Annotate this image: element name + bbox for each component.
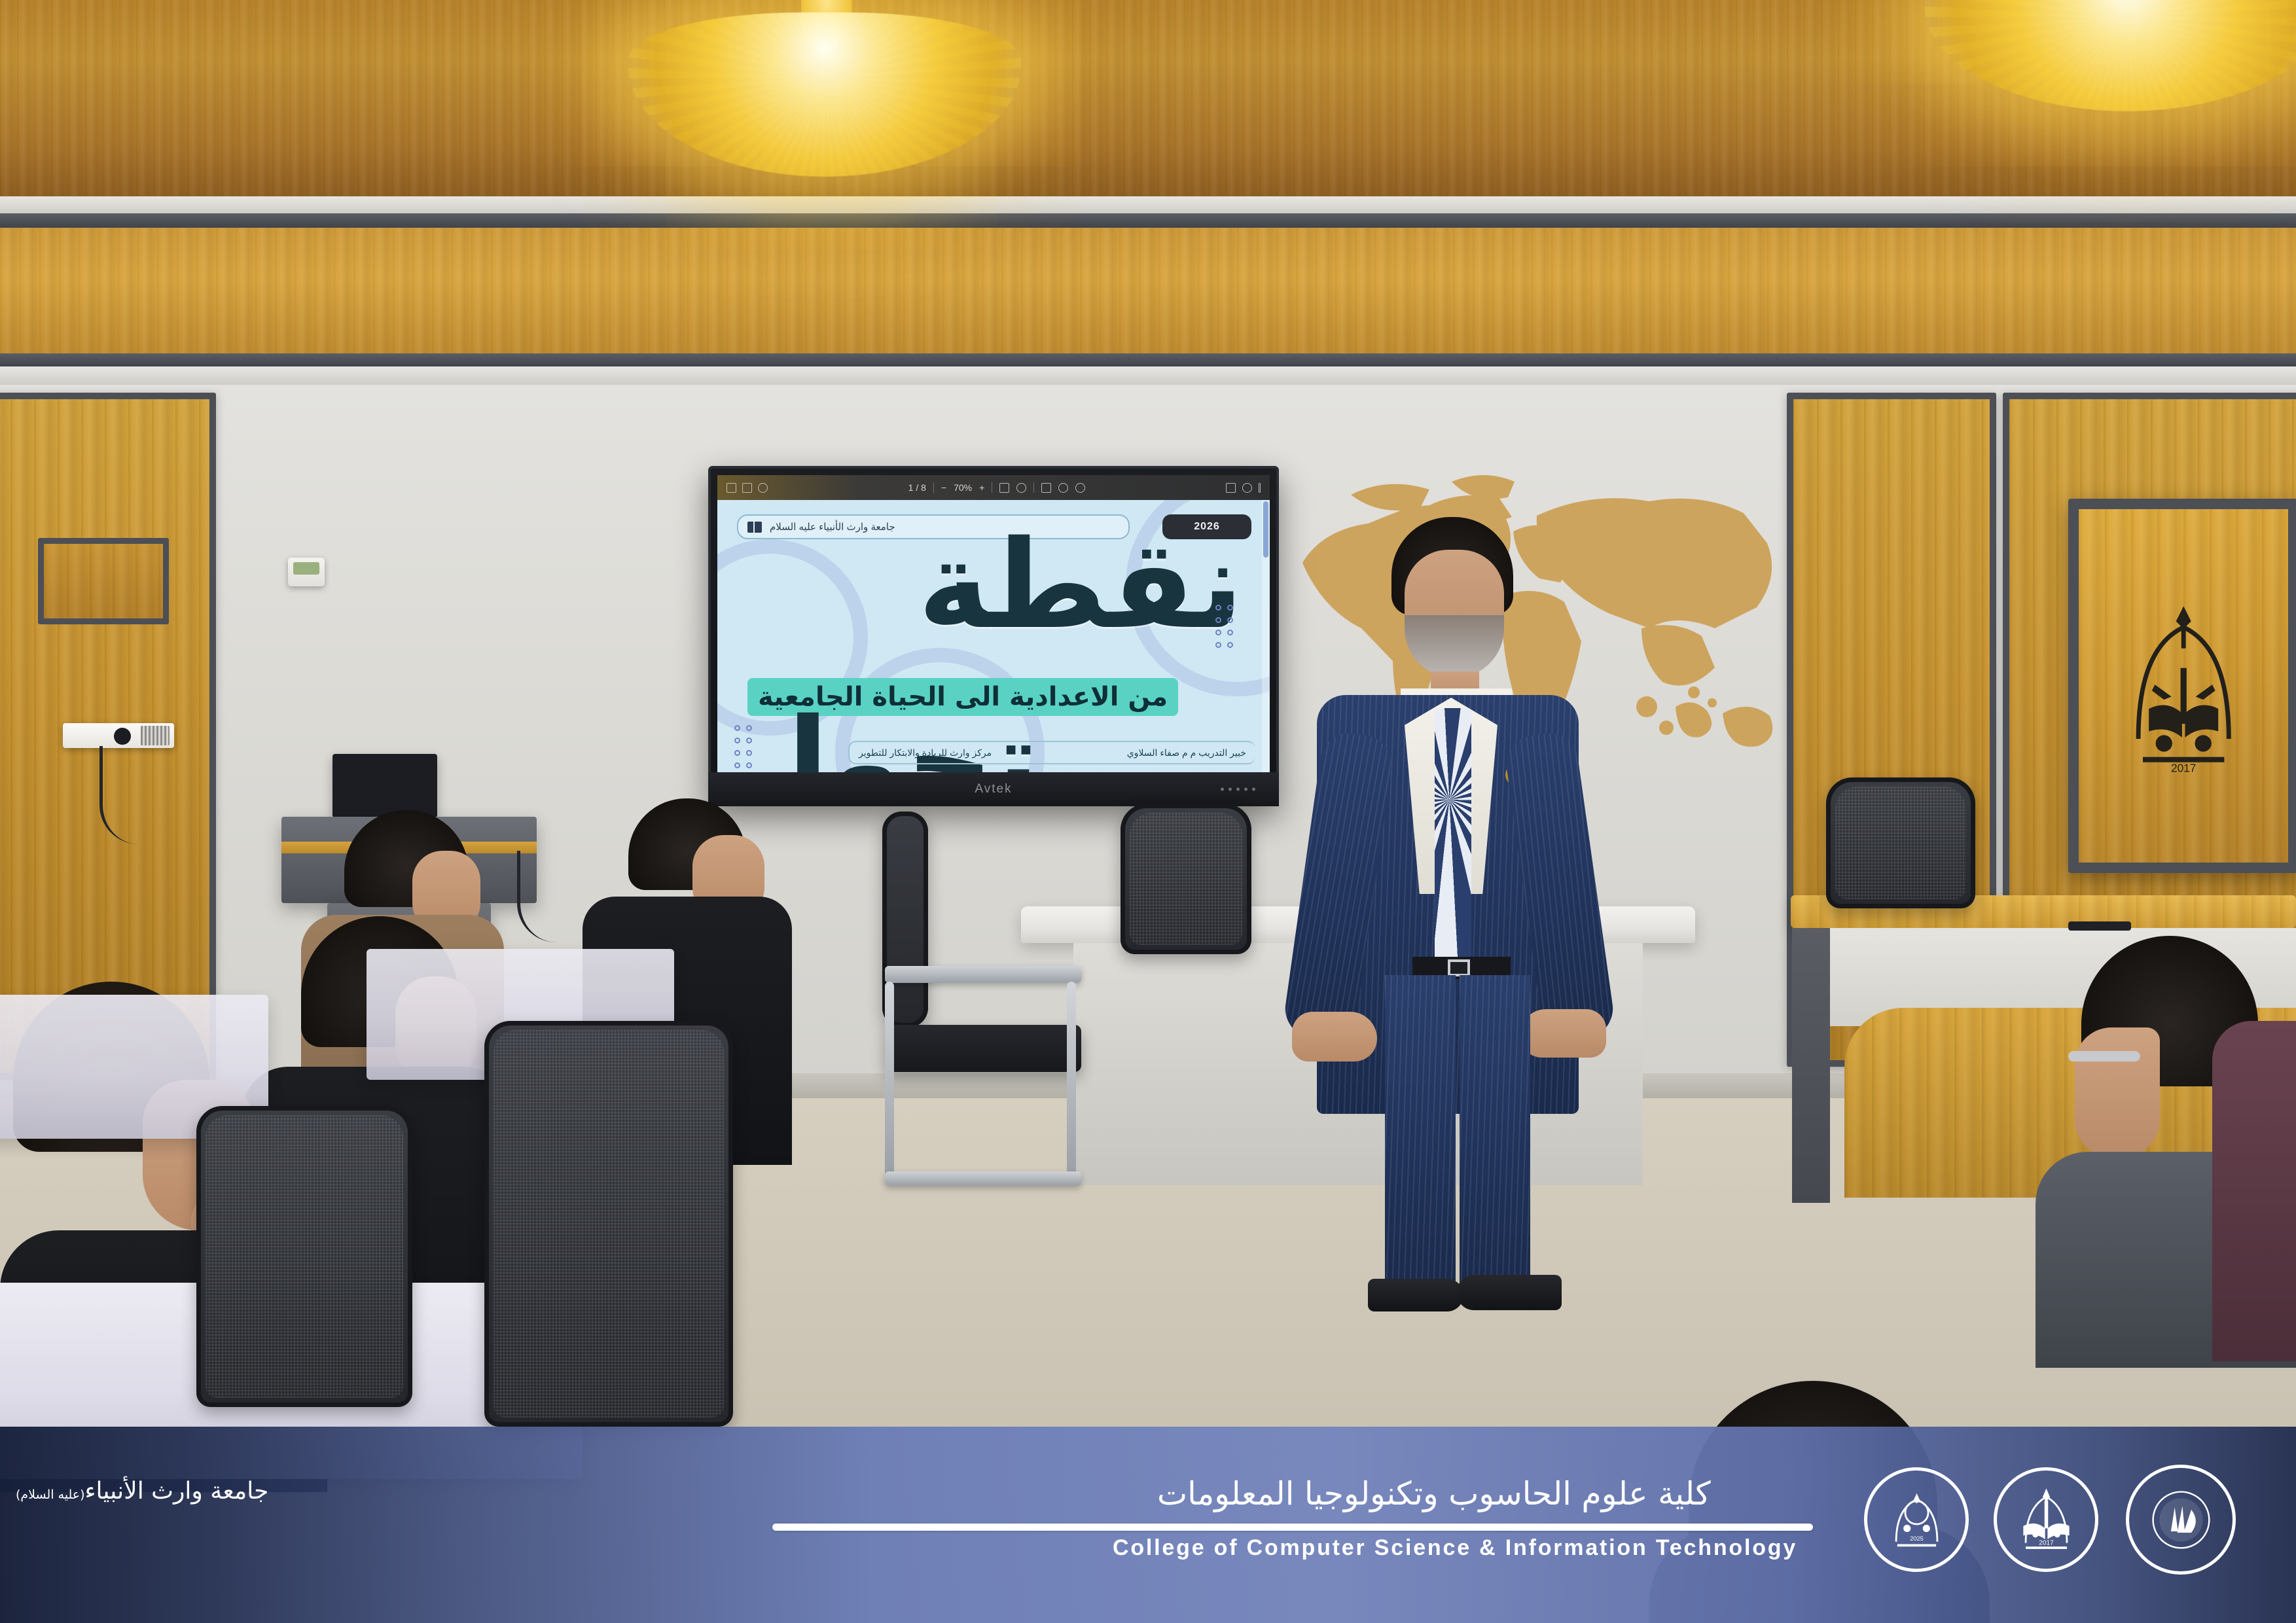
mid-trim-light [0, 366, 2296, 385]
foreground-chair-a[interactable] [484, 1021, 733, 1427]
ceiling-trim-light [0, 196, 2296, 213]
presenter-right-leg [1460, 975, 1530, 1289]
college-logo-icon: 2025 [1880, 1484, 1953, 1556]
highlighter-icon[interactable] [1041, 483, 1051, 493]
side-desk-leg [1792, 928, 1830, 1203]
svg-text:2017: 2017 [2039, 1539, 2054, 1546]
zoom-out-button[interactable]: − [941, 482, 946, 493]
university-logo-icon: 2017 [2010, 1484, 2083, 1556]
presenter-belt-buckle [1448, 959, 1470, 976]
footer-college-name-ar: كلية علوم الحاسوب وتكنولوجيا المعلومات [1157, 1475, 1711, 1512]
university-logo: 2017 [1994, 1467, 2098, 1572]
slide-footer-trainer: خبير التدريب م م صفاء السلاوي [1127, 747, 1246, 758]
download-icon[interactable] [1226, 483, 1236, 493]
slide-dot-grid-left [734, 725, 752, 768]
pencil-icon[interactable] [758, 483, 768, 493]
slide-scrollbar[interactable] [1262, 500, 1270, 772]
chandelier-right [1924, 0, 2296, 111]
ceiling-trim-dark [0, 213, 2296, 228]
cantilever-chair-seat[interactable] [885, 1025, 1081, 1072]
cantilever-chair-frame-left [885, 982, 894, 1178]
presenter-beard [1405, 615, 1504, 678]
side-desk-pen[interactable] [2068, 921, 2131, 931]
display-indicator-leds [1221, 788, 1255, 791]
footer-university-name-left: جامعة وارث الأنبياء(عليه السلام) [16, 1478, 268, 1505]
redo-icon[interactable] [1075, 483, 1085, 493]
display-chin: Avtek [708, 772, 1279, 806]
side-desk-chair[interactable] [1826, 777, 1975, 908]
presenter-tie-front [1435, 708, 1471, 970]
slide-footer-center: مركز وارث للريادة والابتكار للتطوير [859, 747, 992, 758]
footer-divider-rule [772, 1524, 1813, 1531]
cantilever-chair-arm [885, 966, 1081, 983]
wall-display[interactable]: 1 / 8 − 70% + [708, 466, 1279, 806]
display-screen[interactable]: 1 / 8 − 70% + [717, 475, 1270, 772]
undo-icon[interactable] [1058, 483, 1068, 493]
lecture-hall-photo: 2017 [0, 0, 2296, 1623]
chandelier-center [628, 0, 1021, 177]
wall-power-outlet[interactable] [63, 723, 174, 748]
warith-al-anbiyaa-emblem-icon: 2017 [2108, 559, 2259, 813]
presenter-left-hand [1292, 1012, 1377, 1061]
university-emblem-plaque: 2017 [2068, 499, 2296, 873]
slide-title-line-1: نقطة [918, 531, 1244, 639]
ministry-logo [2126, 1465, 2236, 1575]
wall-thermostat[interactable] [288, 558, 325, 586]
zoom-in-button[interactable]: + [979, 482, 984, 493]
footer-banner: جامعة وارث الأنبياء(عليه السلام) كلية عل… [0, 1427, 2296, 1623]
presentation-slide: جامعة وارث الأنبياء عليه السلام 2026 نقط… [717, 500, 1270, 772]
upper-wood-band [0, 228, 2296, 353]
presenter [1276, 517, 1617, 1361]
mid-trim-dark [0, 353, 2296, 366]
presenter-left-leg [1385, 975, 1456, 1289]
pdf-viewer-toolbar[interactable]: 1 / 8 − 70% + [717, 475, 1270, 500]
presenter-right-hand [1520, 1009, 1606, 1058]
presenter-left-shoe [1368, 1279, 1463, 1311]
display-brand-label: Avtek [975, 782, 1012, 796]
ministry-logo-icon [2143, 1482, 2219, 1558]
audience-member-far-right [2212, 1021, 2296, 1361]
foreground-chair-b[interactable] [196, 1106, 412, 1407]
book-icon [747, 522, 762, 533]
cantilever-chair-base [885, 1171, 1081, 1186]
zoom-level: 70% [954, 482, 972, 493]
svg-text:2025: 2025 [1910, 1535, 1924, 1541]
svg-text:2017: 2017 [2171, 761, 2196, 774]
slide-footer: خبير التدريب م م صفاء السلاوي مركز وارث … [848, 741, 1255, 764]
more-icon[interactable] [1259, 483, 1261, 493]
page-indicator: 1 / 8 [908, 482, 926, 493]
slide-dot-grid-right [1215, 605, 1233, 648]
settings-icon[interactable] [1242, 483, 1252, 493]
presenter-right-shoe [1457, 1275, 1562, 1310]
thumbnail-icon[interactable] [742, 483, 752, 493]
cantilever-chair-frame-right [1067, 982, 1076, 1178]
footer-college-name-en: College of Computer Science & Informatio… [1113, 1535, 1797, 1561]
college-logo: 2025 [1864, 1467, 1969, 1572]
sidebar-toggle-icon[interactable] [726, 483, 736, 493]
contrast-icon[interactable] [1016, 483, 1026, 493]
fit-page-icon[interactable] [999, 483, 1009, 493]
eyeglasses-icon [2068, 1051, 2140, 1061]
conference-chair-center[interactable] [1121, 804, 1251, 954]
podium-laptop[interactable] [332, 754, 437, 817]
